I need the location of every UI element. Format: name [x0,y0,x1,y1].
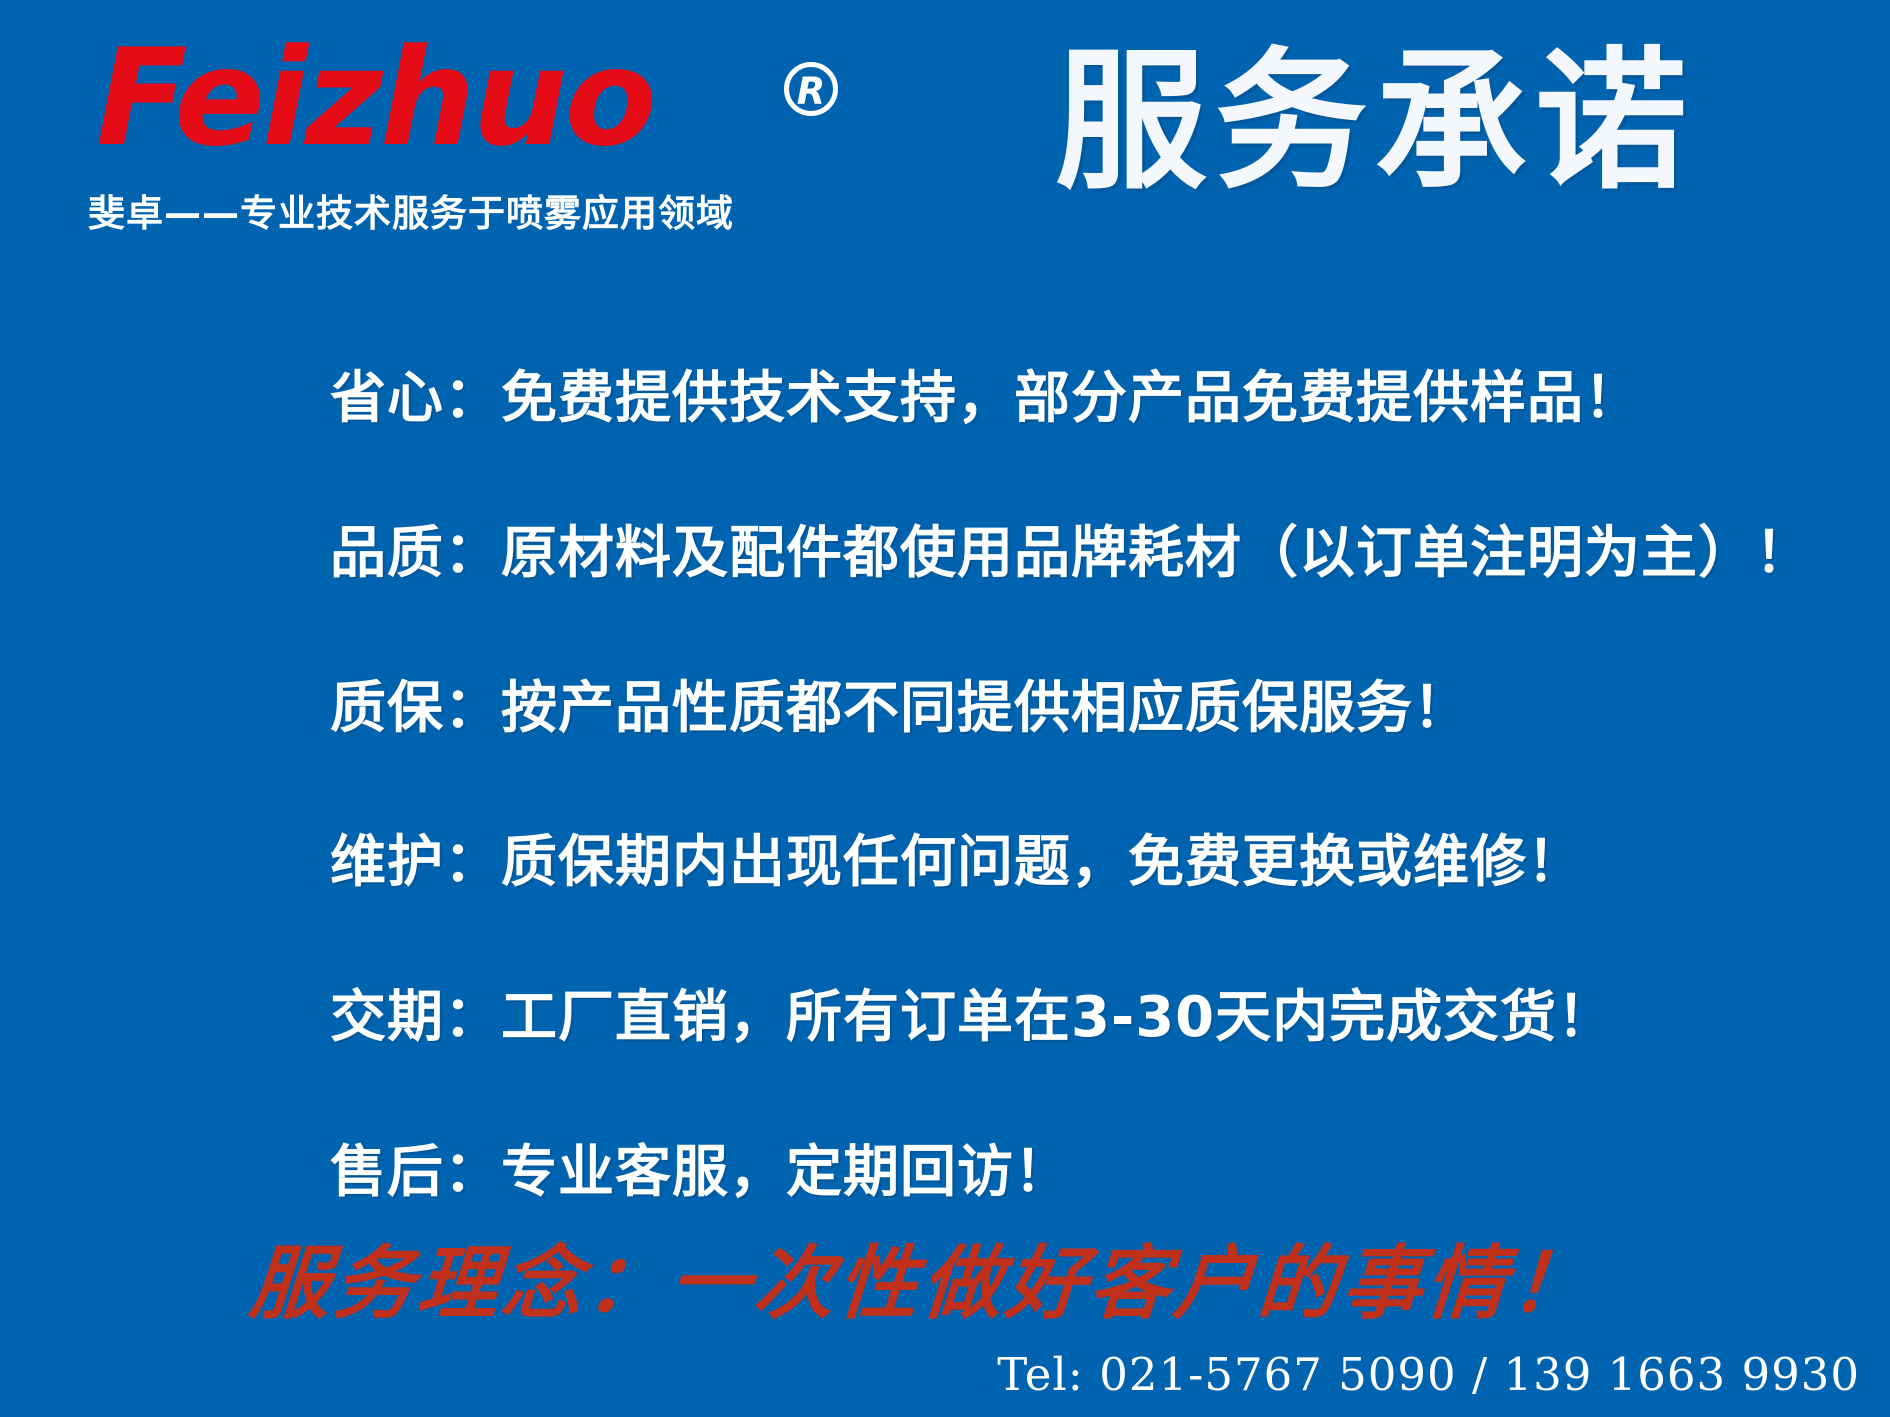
commitment-list: 省心：免费提供技术支持，部分产品免费提供样品！ 品质：原材料及配件都使用品牌耗材… [330,370,1780,1203]
brand-tagline: 斐卓——专业技术服务于喷雾应用领域 [88,183,734,237]
service-commitment-poster: Feizhuo R 斐卓——专业技术服务于喷雾应用领域 服务承诺 省心：免费提供… [0,0,1890,1417]
page-title: 服务承诺 [1055,42,1695,202]
commitment-item: 维护：质保期内出现任何问题，免费更换或维修！ [330,834,1780,893]
commitment-item: 品质：原材料及配件都使用品牌耗材（以订单注明为主）！ [330,525,1780,584]
commitment-item: 售后：专业客服，定期回访！ [330,1144,1780,1203]
brand-logo: Feizhuo R [96,30,816,167]
contact-phone: Tel: 021-5767 5090 / 139 1663 9930 [997,1348,1860,1401]
poster-header: Feizhuo R 斐卓——专业技术服务于喷雾应用领域 服务承诺 [0,0,1890,255]
service-slogan: 服务理念：一次性做好客户的事情！ [247,1243,1597,1323]
commitment-item: 省心：免费提供技术支持，部分产品免费提供样品！ [330,370,1780,429]
commitment-item: 质保：按产品性质都不同提供相应质保服务！ [330,680,1780,739]
registered-trademark-icon: R [784,62,838,116]
commitment-item: 交期：工厂直销，所有订单在3-30天内完成交货！ [330,989,1780,1048]
brand-wordmark: Feizhuo [96,30,654,167]
